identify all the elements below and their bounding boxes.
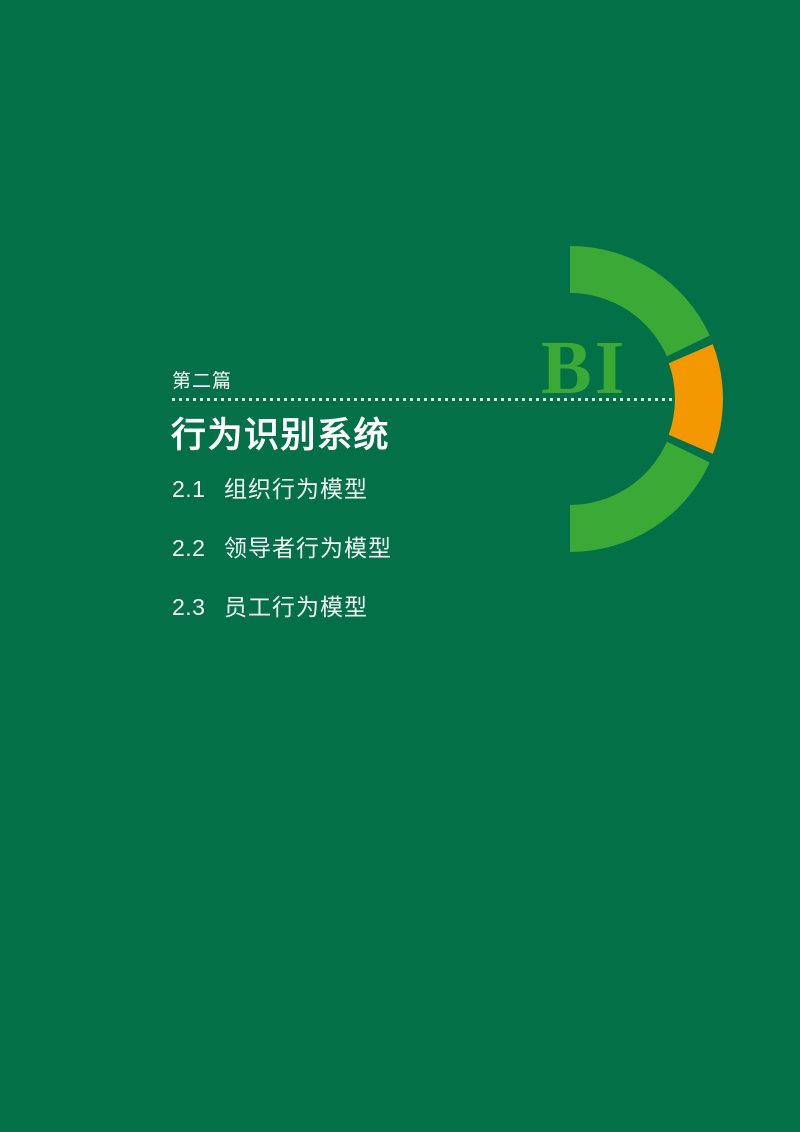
page-title: 行为识别系统 [171, 407, 390, 458]
arc-segment-middle-shape [669, 344, 723, 454]
bi-wordmark: BI [541, 330, 627, 406]
list-item[interactable]: 2.2 领导者行为模型 [172, 529, 592, 563]
list-item-number: 2.1 [172, 476, 224, 503]
list-item-label: 员工行为模型 [224, 588, 368, 622]
list-item[interactable]: 2.3 员工行为模型 [172, 588, 592, 622]
list-item-label: 领导者行为模型 [224, 529, 392, 563]
section-contents-list: 2.1 组织行为模型 2.2 领导者行为模型 2.3 员工行为模型 [172, 470, 592, 647]
list-item-number: 2.2 [172, 535, 224, 562]
list-item-label: 组织行为模型 [224, 470, 368, 504]
section-kicker: 第二篇 [172, 366, 232, 393]
section-divider-page: BI 第二篇 行为识别系统 2.1 组织行为模型 2.2 领导者行为模型 2.3… [0, 0, 800, 1132]
list-item-number: 2.3 [172, 594, 224, 621]
list-item[interactable]: 2.1 组织行为模型 [172, 470, 592, 504]
section-divider-rule [172, 398, 676, 401]
